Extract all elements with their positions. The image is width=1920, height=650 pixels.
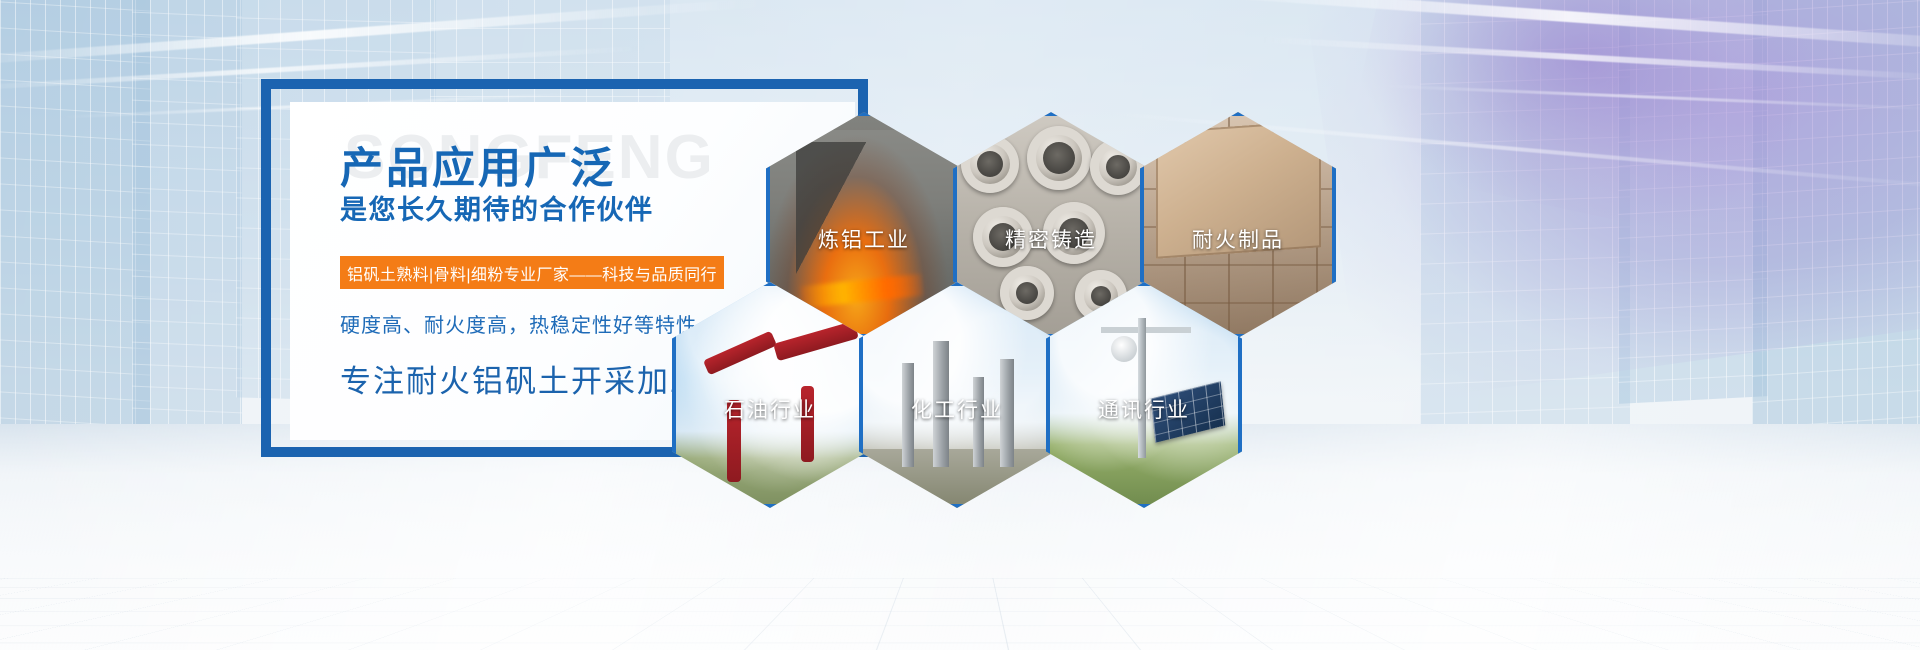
promotional-banner: SONGFENG 产品应用广泛 是您长久期待的合作伙伴 铝矾土熟料|骨料|细粉专… [0, 0, 1920, 650]
application-hexagon-grid: 炼铝工业 精密铸造 耐火制品 [0, 0, 1920, 650]
